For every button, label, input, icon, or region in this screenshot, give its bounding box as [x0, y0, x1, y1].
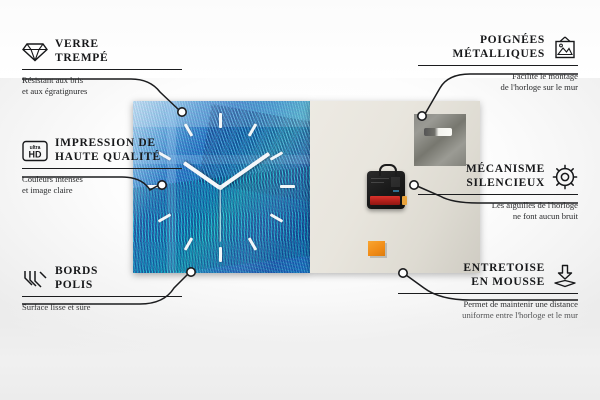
callout-title: IMPRESSION DE HAUTE QUALITÉ	[55, 137, 161, 164]
callout-divider	[22, 296, 182, 297]
movement-battery	[370, 196, 400, 205]
callout-header: MÉCANISME SILENCIEUX	[418, 163, 578, 190]
callout-divider	[22, 69, 182, 70]
callout-divider	[22, 168, 182, 169]
callout-desc-line1: Surface lisse et sûre	[22, 302, 182, 313]
callout-desc-line1: Résistant aux bris	[22, 75, 182, 86]
hanger-keyhole-slot	[424, 128, 452, 136]
callout-header: POIGNÉES MÉTALLIQUES	[418, 34, 578, 61]
movement-hanging-loop	[379, 164, 397, 176]
callout-entretoise-en-mousse[interactable]: ENTRETOISE EN MOUSSE Permet de maintenir…	[398, 262, 578, 320]
movement-detail	[391, 177, 400, 187]
callout-poignees-metalliques[interactable]: POIGNÉES MÉTALLIQUES Facilite le montage…	[418, 34, 578, 92]
polished-edges-icon	[22, 269, 48, 289]
ultra-hd-icon: ultra HD	[22, 140, 48, 162]
callout-desc-line2: de l'horloge sur le mur	[418, 82, 578, 93]
callout-header: BORDS POLIS	[22, 265, 182, 292]
battery-terminal	[402, 196, 407, 205]
movement-detail	[371, 182, 384, 183]
clock-tick	[219, 247, 222, 262]
clock-second-hand	[219, 188, 220, 242]
callout-title: MÉCANISME SILENCIEUX	[466, 163, 545, 190]
clock-tick	[219, 113, 222, 128]
callout-divider	[418, 194, 578, 195]
callout-desc-line1: Permet de maintenir une distance	[398, 299, 578, 310]
callout-header: VERRE TREMPÉ	[22, 38, 182, 65]
callout-title: BORDS POLIS	[55, 265, 98, 292]
callout-title: POIGNÉES MÉTALLIQUES	[453, 34, 545, 61]
clock-movement	[367, 171, 405, 209]
callout-impression-hd[interactable]: ultra HD IMPRESSION DE HAUTE QUALITÉ Cou…	[22, 137, 182, 195]
callout-title: ENTRETOISE EN MOUSSE	[463, 262, 545, 289]
callout-verre-trempe[interactable]: VERRE TREMPÉ Résistant aux bris et aux é…	[22, 38, 182, 96]
diamond-icon	[22, 42, 48, 62]
movement-detail	[393, 190, 399, 192]
callout-desc-line1: Facilite le montage	[418, 71, 578, 82]
infographic-canvas: VERRE TREMPÉ Résistant aux bris et aux é…	[0, 0, 600, 400]
callout-desc-line2: et image claire	[22, 185, 182, 196]
callout-title: VERRE TREMPÉ	[55, 38, 108, 65]
arrow-down-pad-icon	[552, 264, 578, 288]
callout-header: ultra HD IMPRESSION DE HAUTE QUALITÉ	[22, 137, 182, 164]
hanger-plate	[414, 114, 466, 166]
clock-center-hub	[218, 185, 223, 190]
callout-desc-line1: Couleurs intenses	[22, 174, 182, 185]
movement-detail	[371, 178, 389, 179]
gear-icon	[552, 164, 578, 190]
clock-tick	[280, 185, 295, 188]
callout-desc-line1: Les aiguilles de l'horloge	[418, 200, 578, 211]
callout-desc-line2: et aux égratignures	[22, 86, 182, 97]
callout-mecanisme-silencieux[interactable]: MÉCANISME SILENCIEUX Les aiguilles de l'…	[418, 163, 578, 221]
callout-header: ENTRETOISE EN MOUSSE	[398, 262, 578, 289]
svg-text:HD: HD	[29, 149, 42, 159]
callout-bords-polis[interactable]: BORDS POLIS Surface lisse et sûre	[22, 265, 182, 313]
callout-divider	[398, 293, 578, 294]
foam-spacer	[368, 241, 385, 256]
picture-frame-hanging-icon	[552, 36, 578, 60]
callout-divider	[418, 65, 578, 66]
callout-desc-line2: ne font aucun bruit	[418, 211, 578, 222]
callout-desc-line2: uniforme entre l'horloge et le mur	[398, 310, 578, 321]
